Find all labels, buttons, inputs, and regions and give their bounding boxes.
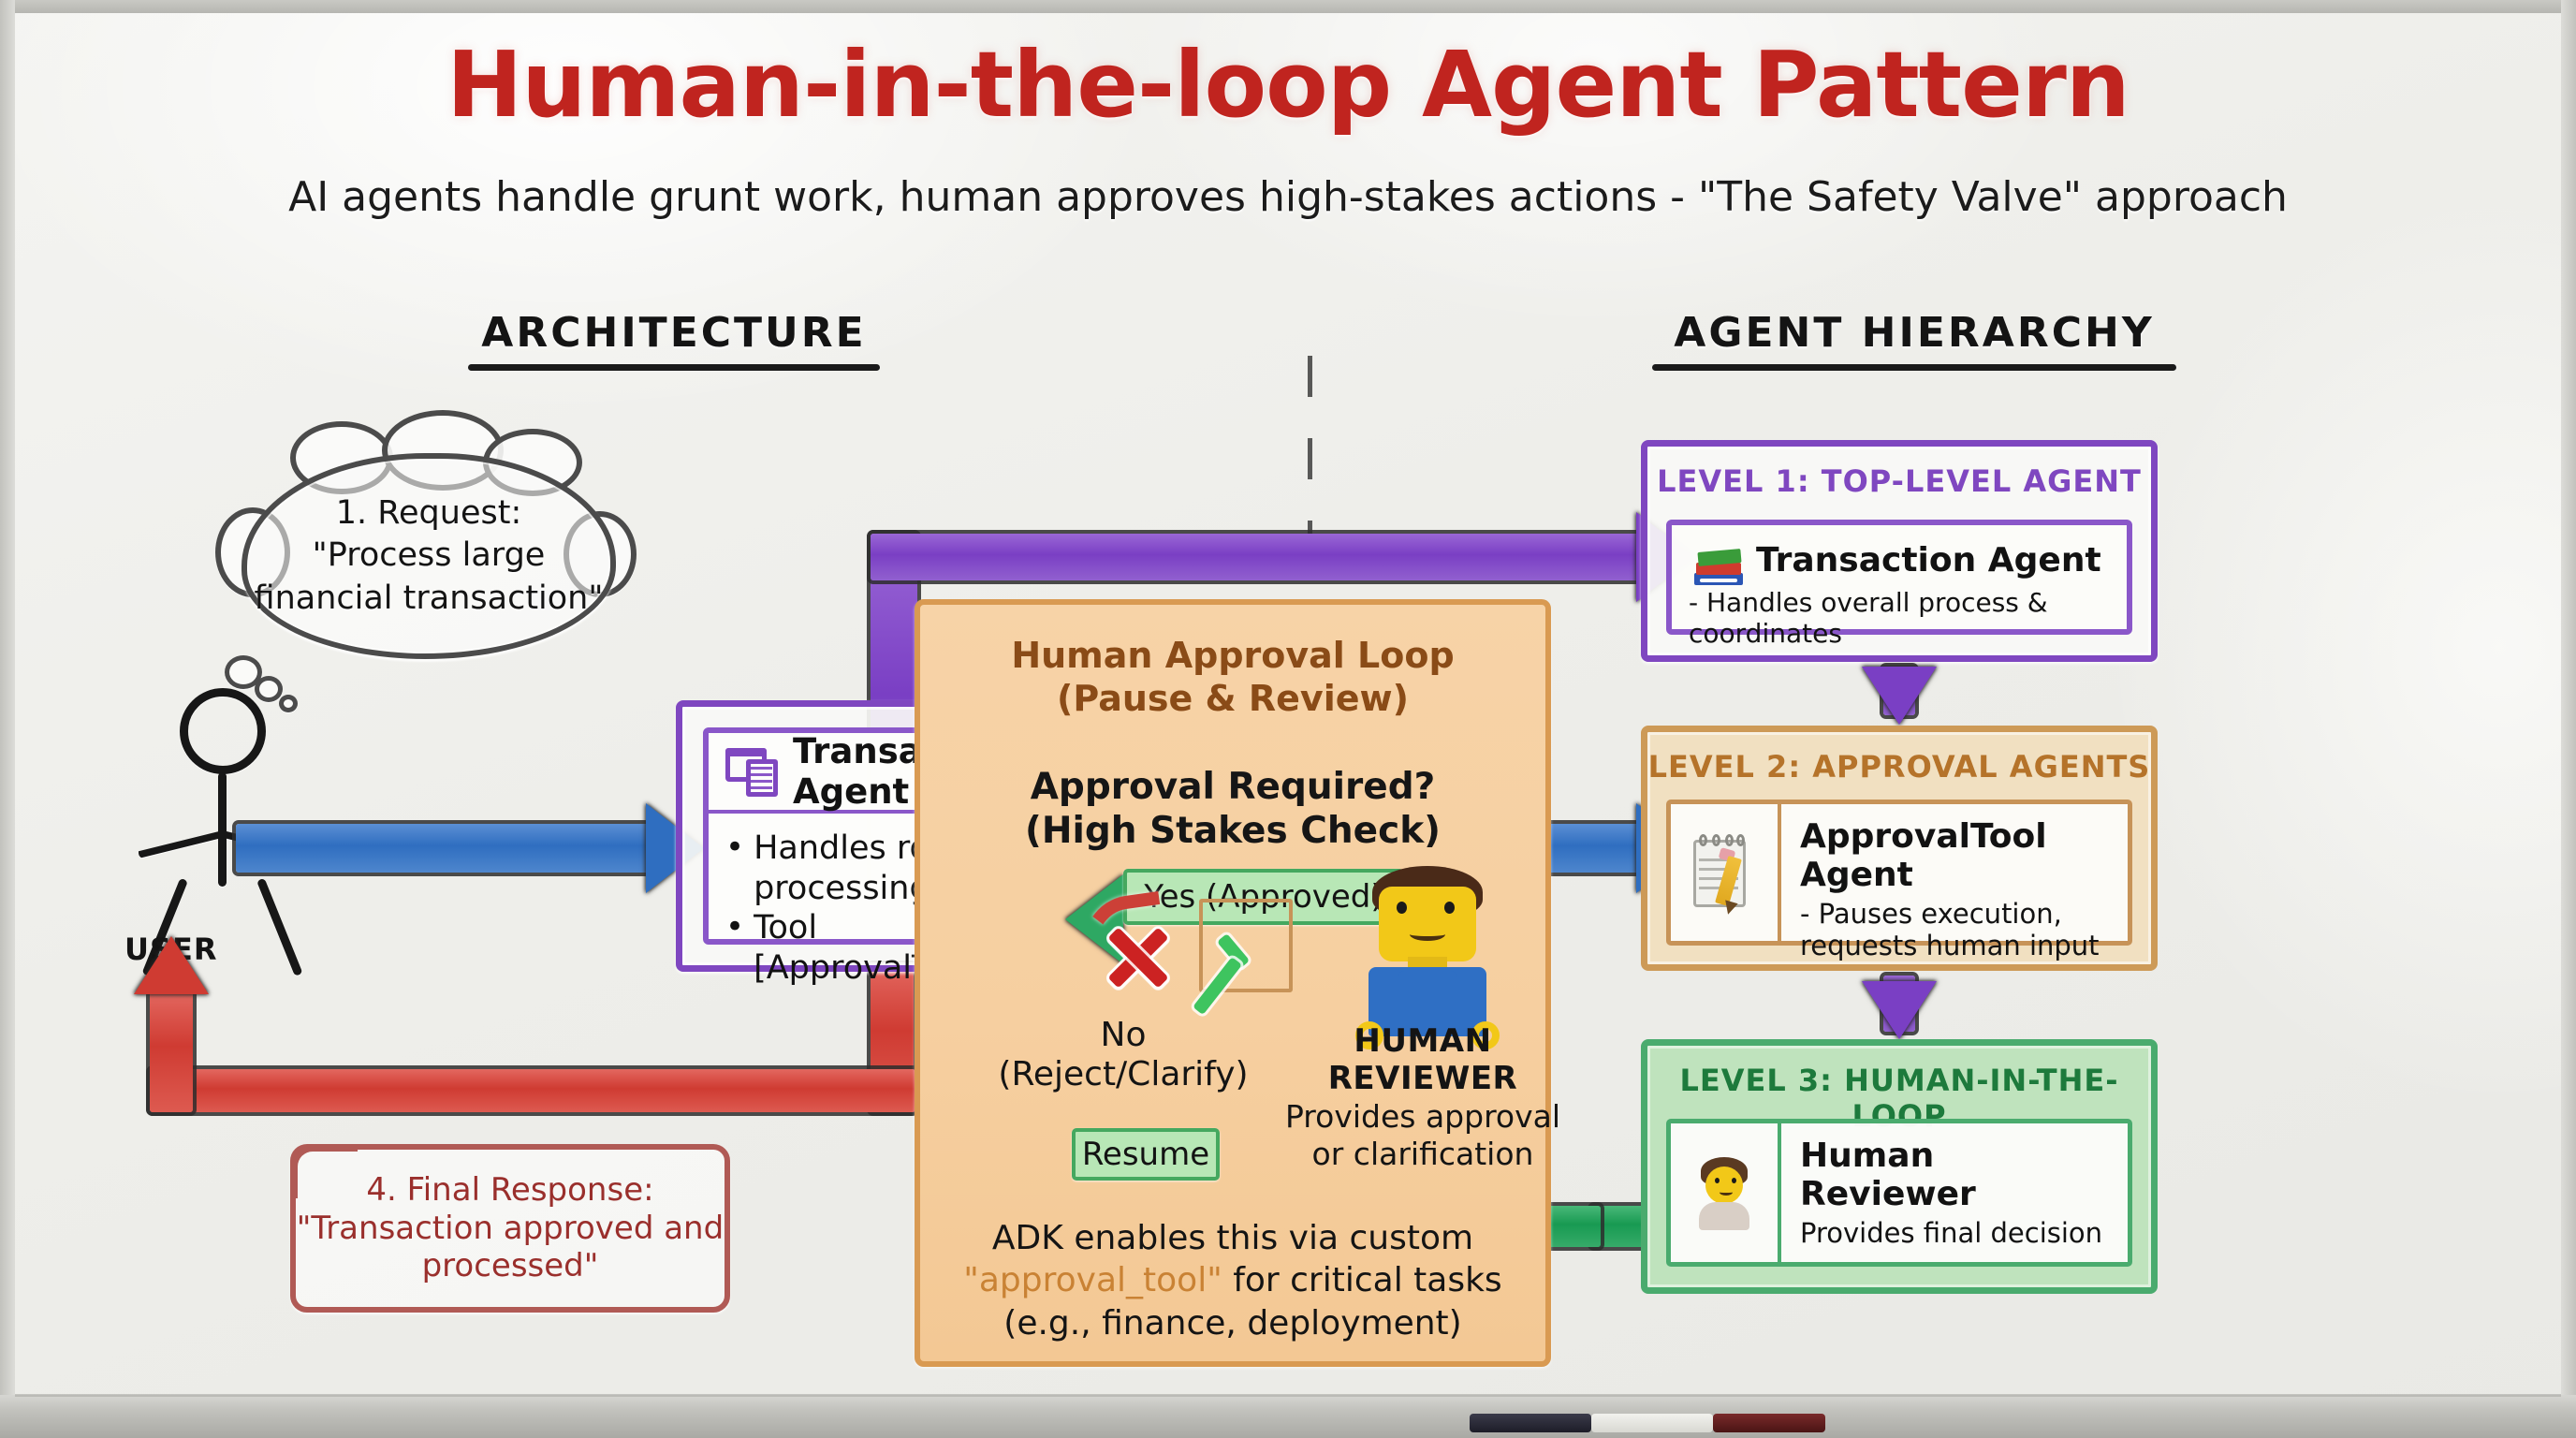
reject-label: No (Reject/Clarify) xyxy=(992,1016,1254,1095)
board-frame-top xyxy=(0,0,2576,13)
final-response-line2: "Transaction approved and xyxy=(297,1210,724,1248)
level-1-inner: Transaction Agent - Handles overall proc… xyxy=(1666,520,2132,635)
request-thought-bubble: 1. Request: "Process large financial tra… xyxy=(241,453,616,659)
hierarchy-connector-2-3-head xyxy=(1862,981,1937,1039)
approval-question: Approval Required? (High Stakes Check) xyxy=(920,766,1545,854)
books-icon xyxy=(1692,535,1745,585)
reviewer-desc-line1: Provides approval xyxy=(1282,1099,1563,1135)
board-tray xyxy=(0,1395,2576,1438)
level-2-inner: ApprovalTool Agent - Pauses execution, r… xyxy=(1666,800,2132,946)
resume-tag[interactable]: Resume xyxy=(1072,1128,1220,1181)
level-1-header-row: Transaction Agent xyxy=(1672,535,2127,585)
final-response-line3: processed" xyxy=(422,1247,599,1285)
marker-white xyxy=(1591,1414,1713,1432)
heading-underline xyxy=(468,364,880,371)
hierarchy-connector-1-2-head xyxy=(1862,667,1937,725)
marker-red xyxy=(1713,1414,1825,1432)
page-title: Human-in-the-loop Agent Pattern xyxy=(0,32,2576,138)
level-3-text-cell: Human Reviewer Provides final decision xyxy=(1781,1123,2128,1262)
adk-footer-note: ADK enables this via custom "approval_to… xyxy=(915,1217,1551,1344)
request-line-3: financial transaction" xyxy=(255,580,604,618)
heading-underline xyxy=(1652,364,2176,371)
approval-tool-token: "approval_tool" xyxy=(963,1261,1222,1299)
approval-question-line2: (High Stakes Check) xyxy=(920,810,1545,854)
approval-loop-title-line1: Human Approval Loop xyxy=(920,635,1545,678)
reviewer-desc-line2: or clarification xyxy=(1282,1137,1563,1172)
level-3-agent-desc: Provides final decision xyxy=(1800,1217,2116,1249)
level-2-icon-cell xyxy=(1671,804,1781,941)
request-line-2: "Process large xyxy=(313,536,546,575)
reject-label-line2: (Reject/Clarify) xyxy=(992,1055,1254,1094)
hierarchy-level-2-card[interactable]: LEVEL 2: APPROVAL AGENTS ApprovalTool Ag… xyxy=(1641,726,2158,971)
level-2-title: LEVEL 2: APPROVAL AGENTS xyxy=(1647,749,2151,785)
adk-footer-line2-rest: for critical tasks xyxy=(1222,1261,1502,1299)
level-3-inner: Human Reviewer Provides final decision xyxy=(1666,1119,2132,1267)
notepad-pencil-icon xyxy=(1690,832,1759,913)
hierarchy-level-3-card[interactable]: LEVEL 3: HUMAN-IN-THE-LOOP Human Reviewe… xyxy=(1641,1039,2158,1294)
final-response-callout: 4. Final Response: "Transaction approved… xyxy=(290,1144,730,1313)
response-arrow-vertical-left xyxy=(150,992,193,1112)
level-1-agent-desc: - Handles overall process & coordinates xyxy=(1689,587,2117,649)
final-response-text: 4. Final Response: "Transaction approved… xyxy=(296,1150,724,1307)
bullet-dot: • xyxy=(725,829,744,908)
person-avatar-icon xyxy=(1693,1155,1755,1230)
reject-label-line1: No xyxy=(992,1016,1254,1055)
tray-edge xyxy=(15,1394,2561,1397)
whiteboard-canvas: Human-in-the-loop Agent Pattern AI agent… xyxy=(0,0,2576,1438)
level-2-agent-desc: - Pauses execution, requests human input xyxy=(1800,898,2116,961)
marker-black xyxy=(1470,1414,1591,1432)
window-list-icon xyxy=(725,744,780,799)
level-1-agent-name: Transaction Agent xyxy=(1756,541,2101,580)
adk-footer-line3: (e.g., finance, deployment) xyxy=(915,1302,1551,1344)
request-bubble-text: 1. Request: "Process large financial tra… xyxy=(241,453,616,659)
approval-question-line1: Approval Required? xyxy=(920,766,1545,810)
hierarchy-heading-text: AGENT HIERARCHY xyxy=(1674,309,2154,357)
hierarchy-section-heading: AGENT HIERARCHY xyxy=(1652,309,2176,371)
level-2-agent-name: ApprovalTool Agent xyxy=(1800,817,2116,894)
approval-loop-title-line2: (Pause & Review) xyxy=(920,678,1545,721)
level-3-icon-cell xyxy=(1671,1123,1781,1262)
response-arrow-horizontal xyxy=(150,1069,915,1112)
bullet-dot: • xyxy=(725,908,744,988)
hierarchy-level-1-card[interactable]: LEVEL 1: TOP-LEVEL AGENT Transaction Age… xyxy=(1641,440,2158,662)
stick-figure-body xyxy=(218,772,227,887)
architecture-section-heading: ARCHITECTURE xyxy=(468,309,880,371)
reject-x-icon xyxy=(1103,922,1174,993)
adk-footer-line1: ADK enables this via custom xyxy=(915,1217,1551,1259)
level-2-text-cell: ApprovalTool Agent - Pauses execution, r… xyxy=(1781,804,2128,941)
stick-figure-head xyxy=(180,688,266,774)
request-line-1: 1. Request: xyxy=(336,494,521,533)
request-arrow-shaft xyxy=(236,824,648,873)
response-arrow-head xyxy=(134,936,209,994)
level-3-agent-name: Human Reviewer xyxy=(1800,1137,2116,1213)
approval-loop-title: Human Approval Loop (Pause & Review) xyxy=(920,635,1545,720)
page-subtitle: AI agents handle grunt work, human appro… xyxy=(0,173,2576,221)
adk-footer-line2: "approval_tool" for critical tasks xyxy=(915,1259,1551,1301)
final-response-line1: 4. Final Response: xyxy=(366,1171,653,1210)
delegate-arrow-horizontal xyxy=(871,534,1638,580)
architecture-heading-text: ARCHITECTURE xyxy=(481,309,866,357)
level-1-title: LEVEL 1: TOP-LEVEL AGENT xyxy=(1647,463,2151,499)
human-reviewer-label: HUMAN REVIEWER Provides approval or clar… xyxy=(1282,1022,1563,1173)
check-icon xyxy=(1211,904,1284,977)
reviewer-title: HUMAN REVIEWER xyxy=(1282,1022,1563,1097)
stick-figure-leg xyxy=(256,878,303,976)
